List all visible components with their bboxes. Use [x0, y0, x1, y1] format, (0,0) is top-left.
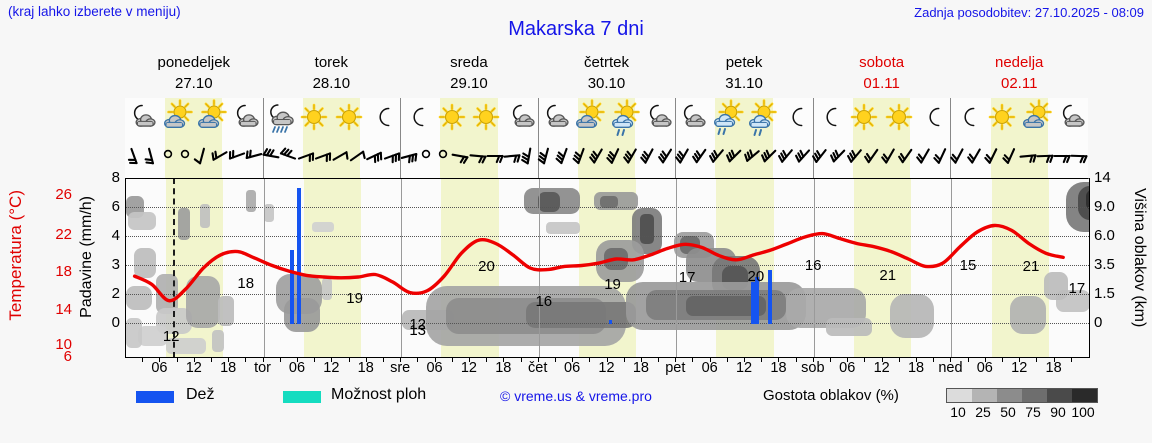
- x-axis-tick: [177, 357, 178, 362]
- day-header-sreda: sreda29.10: [400, 52, 538, 96]
- cloud-height-axis-title: Višina oblakov (km): [1130, 188, 1148, 327]
- cloud-density-swatch-75: [1022, 389, 1047, 402]
- x-axis-tick: [916, 357, 917, 362]
- x-tick-label: sob: [796, 360, 830, 376]
- x-axis-tick: [830, 357, 831, 362]
- precip-tick-3: 3: [100, 256, 120, 273]
- x-axis-tick: [417, 357, 418, 362]
- weather-icon-moon-cloud: [538, 98, 572, 140]
- x-tick-label: 18: [761, 360, 795, 376]
- temperature-point-label: 21: [1023, 258, 1040, 275]
- x-axis-tick: [950, 357, 951, 362]
- weather-icon-moon: [951, 98, 985, 140]
- x-axis-tick: [349, 357, 350, 362]
- plot-bottom-border: [125, 357, 1090, 358]
- weather-icon-row: [125, 98, 1088, 140]
- x-axis-tick: [503, 357, 504, 362]
- precipitation-axis-title: Padavine (mm/h): [78, 196, 96, 318]
- weather-icon-moon: [366, 98, 400, 140]
- day-name: petek: [675, 52, 813, 73]
- x-axis-tick: [538, 357, 539, 362]
- day-header-row: ponedeljek27.10torek28.10sreda29.10četrt…: [125, 52, 1088, 96]
- temperature-point-label: 18: [237, 275, 254, 292]
- x-tick-label: 06: [830, 360, 864, 376]
- temperature-point-label: 17: [679, 269, 696, 286]
- weather-icon-moon: [400, 98, 434, 140]
- x-axis-tick: [864, 357, 865, 362]
- meteogram-plot: 121813191220161917201621152117: [125, 178, 1090, 358]
- x-axis-tick: [297, 357, 298, 362]
- x-axis-tick: [985, 357, 986, 362]
- x-axis-tick: [607, 357, 608, 362]
- day-name: nedelja: [950, 52, 1088, 73]
- x-axis-tick: [142, 357, 143, 362]
- cloud-density-swatch-90: [1047, 389, 1072, 402]
- x-axis-tick: [589, 357, 590, 362]
- weather-icon-sun: [297, 98, 331, 140]
- x-tick-label: 12: [314, 360, 348, 376]
- weather-icon-sun-cloud: [194, 98, 228, 140]
- x-axis-tick: [813, 357, 814, 362]
- x-axis-tick: [211, 357, 212, 362]
- weather-icon-moon-cloud: [125, 98, 159, 140]
- cloud-height-tick-6.0: 6.0: [1094, 227, 1124, 244]
- temperature-point-label: 15: [960, 257, 977, 274]
- temperature-point-label: 21: [879, 267, 896, 284]
- x-tick-label: 12: [1002, 360, 1036, 376]
- x-tick-label: ned: [933, 360, 967, 376]
- x-tick-label: sre: [383, 360, 417, 376]
- weather-icon-sun: [882, 98, 916, 140]
- cloud-density-swatch-50: [997, 389, 1022, 402]
- x-axis-tick: [280, 357, 281, 362]
- temperature-point-label: 19: [346, 290, 363, 307]
- cloud-density-swatch-10: [947, 389, 972, 402]
- temperature-point-label: 12: [409, 316, 426, 333]
- x-tick-label: 06: [142, 360, 176, 376]
- temperature-point-label: 20: [478, 258, 495, 275]
- x-tick-label: 18: [899, 360, 933, 376]
- temperature-axis-title: Temperatura (°C): [6, 190, 26, 321]
- x-axis-tick: [744, 357, 745, 362]
- temperature-point-label: 19: [604, 276, 621, 293]
- x-axis-tick: [727, 357, 728, 362]
- temperature-tick-26: 26: [40, 186, 72, 203]
- plot-top-border: [125, 178, 1088, 179]
- weather-icon-sun: [985, 98, 1019, 140]
- weather-icon-moon: [779, 98, 813, 140]
- x-tick-label: tor: [246, 360, 280, 376]
- x-axis-tick: [641, 357, 642, 362]
- temperature-tick-6: 6: [40, 348, 72, 365]
- wind-barb-row: [125, 140, 1088, 178]
- x-tick-label: 06: [693, 360, 727, 376]
- precip-tick-4: 4: [100, 227, 120, 244]
- x-tick-label: 12: [177, 360, 211, 376]
- x-axis-tick: [486, 357, 487, 362]
- x-axis-tick: [692, 357, 693, 362]
- x-tick-label: 06: [280, 360, 314, 376]
- cloud-density-tick-10: 10: [945, 404, 971, 420]
- cloud-density-colorbar: [946, 388, 1098, 403]
- day-name: ponedeljek: [125, 52, 263, 73]
- weather-icon-sun: [435, 98, 469, 140]
- x-axis-tick: [1071, 357, 1072, 362]
- x-tick-label: 12: [452, 360, 486, 376]
- temperature-point-label: 16: [805, 257, 822, 274]
- x-axis-tick: [228, 357, 229, 362]
- x-axis-tick: [675, 357, 676, 362]
- weather-icon-moon: [813, 98, 847, 140]
- weather-icon-cloud-rain: [263, 98, 297, 140]
- cloud-density-tick-90: 90: [1045, 404, 1071, 420]
- temperature-tick-22: 22: [40, 226, 72, 243]
- x-tick-label: 06: [968, 360, 1002, 376]
- temperature-point-label: 17: [1069, 280, 1086, 297]
- cloud-density-tick-75: 75: [1020, 404, 1046, 420]
- temperature-tick-14: 14: [40, 301, 72, 318]
- x-tick-label: pet: [658, 360, 692, 376]
- x-tick-label: 18: [1037, 360, 1071, 376]
- temperature-point-label: 16: [535, 293, 552, 310]
- x-axis-tick: [469, 357, 470, 362]
- weather-icon-moon-cloud: [1054, 98, 1088, 140]
- last-updated: Zadnja posodobitev: 27.10.2025 - 08:09: [914, 5, 1144, 20]
- weather-icon-sun-cloud: [1019, 98, 1053, 140]
- x-axis-tick: [968, 357, 969, 362]
- x-axis-tick: [400, 357, 401, 362]
- x-axis-tick: [1002, 357, 1003, 362]
- day-date: 30.10: [538, 73, 676, 94]
- day-header-ponedeljek: ponedeljek27.10: [125, 52, 263, 96]
- x-axis-tick: [1019, 357, 1020, 362]
- x-axis-tick: [435, 357, 436, 362]
- day-header-petek: petek31.10: [675, 52, 813, 96]
- weather-icon-sun-cloud: [160, 98, 194, 140]
- x-axis-tick: [796, 357, 797, 362]
- x-tick-label: 12: [865, 360, 899, 376]
- x-axis-tick: [710, 357, 711, 362]
- x-axis-tick: [933, 357, 934, 362]
- cloud-height-tick-1.5: 1.5: [1094, 285, 1124, 302]
- x-axis-tick: [882, 357, 883, 362]
- x-axis-tick: [761, 357, 762, 362]
- weather-icon-moon-cloud: [675, 98, 709, 140]
- day-name: sobota: [813, 52, 951, 73]
- temperature-point-label: 20: [748, 268, 765, 285]
- precip-tick-2: 2: [100, 285, 120, 302]
- x-tick-label: 18: [486, 360, 520, 376]
- weather-icon-sun: [332, 98, 366, 140]
- x-axis-tick: [624, 357, 625, 362]
- precip-tick-8: 8: [100, 169, 120, 186]
- x-axis-tick: [572, 357, 573, 362]
- x-axis-tick: [314, 357, 315, 362]
- legend-showers-swatch: [283, 391, 321, 403]
- day-date: 29.10: [400, 73, 538, 94]
- day-name: četrtek: [538, 52, 676, 73]
- x-tick-label: 12: [590, 360, 624, 376]
- weather-icon-sun-cloud-drizzle: [744, 98, 778, 140]
- x-axis-tick: [658, 357, 659, 362]
- x-axis-tick-labels: 061218tor061218sre061218čet061218pet0612…: [125, 360, 1088, 380]
- weather-icon-sun-cloud: [572, 98, 606, 140]
- weather-icon-moon: [916, 98, 950, 140]
- day-header-sobota: sobota01.11: [813, 52, 951, 96]
- x-axis-tick: [263, 357, 264, 362]
- cloud-height-tick-14: 14: [1094, 169, 1124, 186]
- location-menu-note: (kraj lahko izberete v meniju): [8, 4, 181, 19]
- precip-tick-0: 0: [100, 314, 120, 331]
- cloud-height-tick-0: 0: [1094, 314, 1124, 331]
- weather-icon-moon-cloud: [228, 98, 262, 140]
- weather-icon-sun: [847, 98, 881, 140]
- x-axis-tick: [778, 357, 779, 362]
- x-axis-tick: [245, 357, 246, 362]
- day-date: 31.10: [675, 73, 813, 94]
- x-axis-tick: [331, 357, 332, 362]
- x-axis-tick: [555, 357, 556, 362]
- day-date: 27.10: [125, 73, 263, 94]
- weather-icon-moon-cloud: [504, 98, 538, 140]
- day-header-četrtek: četrtek30.10: [538, 52, 676, 96]
- day-date: 28.10: [263, 73, 401, 94]
- copyright-link[interactable]: © vreme.us & vreme.pro: [500, 388, 652, 404]
- x-axis-tick: [159, 357, 160, 362]
- cloud-density-swatch-25: [972, 389, 997, 402]
- weather-icon-moon-cloud: [641, 98, 675, 140]
- precip-tick-6: 6: [100, 198, 120, 215]
- wind-barb: [1069, 140, 1089, 174]
- x-axis-tick: [847, 357, 848, 362]
- x-axis-tick: [194, 357, 195, 362]
- x-axis-tick: [899, 357, 900, 362]
- x-axis-tick: [1036, 357, 1037, 362]
- legend-rain-label: Dež: [186, 386, 214, 404]
- x-axis-tick: [452, 357, 453, 362]
- x-tick-label: 18: [211, 360, 245, 376]
- day-header-nedelja: nedelja02.11: [950, 52, 1088, 96]
- x-tick-label: 06: [418, 360, 452, 376]
- x-tick-label: 18: [349, 360, 383, 376]
- day-header-torek: torek28.10: [263, 52, 401, 96]
- cloud-density-swatch-100: [1072, 389, 1097, 402]
- x-axis-tick: [521, 357, 522, 362]
- weather-icon-sun-cloud-drizzle: [607, 98, 641, 140]
- legend-showers-label: Možnost ploh: [331, 386, 426, 404]
- x-tick-label: 06: [555, 360, 589, 376]
- x-tick-label: 18: [624, 360, 658, 376]
- cloud-density-tick-100: 100: [1070, 404, 1096, 420]
- day-date: 01.11: [813, 73, 951, 94]
- day-date: 02.11: [950, 73, 1088, 94]
- temperature-line: [126, 178, 1089, 358]
- cloud-density-tick-50: 50: [995, 404, 1021, 420]
- x-axis-tick: [1054, 357, 1055, 362]
- cloud-density-legend-title: Gostota oblakov (%): [763, 387, 899, 404]
- cloud-density-tick-25: 25: [970, 404, 996, 420]
- page-title: Makarska 7 dni: [0, 18, 1152, 41]
- x-tick-label: 12: [727, 360, 761, 376]
- cloud-height-tick-9.0: 9.0: [1094, 198, 1124, 215]
- day-name: sreda: [400, 52, 538, 73]
- weather-icon-cloud-sun-drizzle: [710, 98, 744, 140]
- weather-icon-sun: [469, 98, 503, 140]
- x-tick-label: čet: [521, 360, 555, 376]
- temperature-point-label: 12: [163, 328, 180, 345]
- cloud-height-tick-3.5: 3.5: [1094, 256, 1124, 273]
- legend-rain-swatch: [136, 391, 174, 403]
- x-axis-tick: [366, 357, 367, 362]
- temperature-tick-18: 18: [40, 263, 72, 280]
- x-axis-tick: [383, 357, 384, 362]
- day-name: torek: [263, 52, 401, 73]
